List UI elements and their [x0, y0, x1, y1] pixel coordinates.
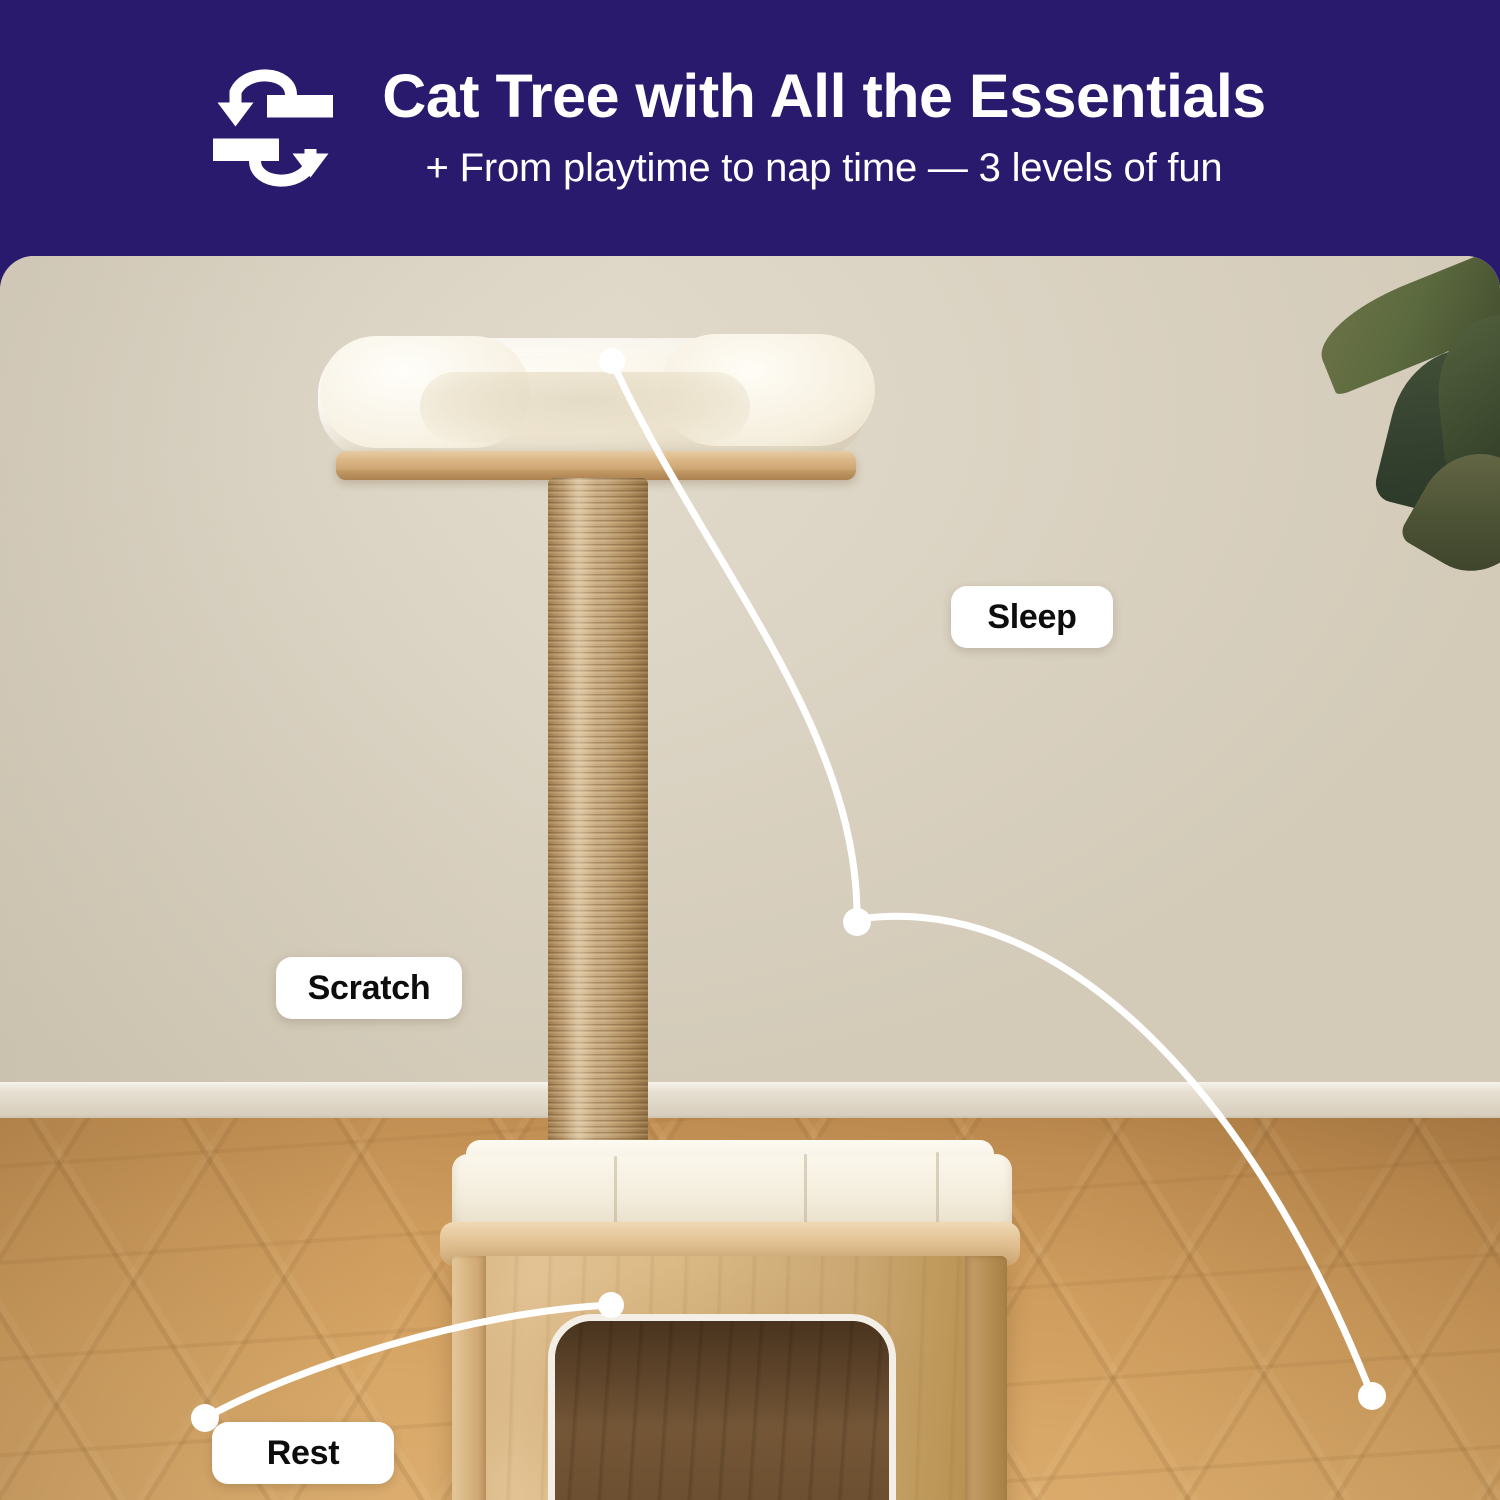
cabinet-left-post	[452, 1256, 486, 1500]
callout-chip-scratch[interactable]: Scratch	[276, 957, 462, 1019]
product-infographic: Cat Tree with All the Essentials + From …	[0, 0, 1500, 1500]
callout-label: Rest	[267, 1434, 340, 1473]
sisal-scratching-post	[548, 478, 648, 1166]
interior-shadow	[555, 1321, 889, 1500]
swap-arrows-icon	[198, 53, 348, 203]
callout-chip-rest[interactable]: Rest	[212, 1422, 394, 1484]
callout-label: Scratch	[308, 969, 431, 1008]
top-cushion-center-dip	[420, 372, 750, 442]
cushion-seam	[936, 1152, 939, 1232]
header-text-block: Cat Tree with All the Essentials + From …	[382, 64, 1265, 192]
product-photo: Sleep Scratch Rest	[0, 256, 1500, 1500]
cabinet-right-post	[965, 1256, 1007, 1500]
cat-tree	[0, 256, 1500, 1500]
cat-house-entrance	[548, 1314, 896, 1500]
post-highlight	[562, 478, 596, 1166]
page-title: Cat Tree with All the Essentials	[382, 64, 1265, 130]
header-banner: Cat Tree with All the Essentials + From …	[0, 0, 1500, 256]
page-subtitle: + From playtime to nap time — 3 levels o…	[426, 144, 1223, 192]
callout-label: Sleep	[987, 598, 1076, 637]
header-content: Cat Tree with All the Essentials + From …	[198, 53, 1265, 203]
callout-chip-sleep[interactable]: Sleep	[951, 586, 1113, 648]
